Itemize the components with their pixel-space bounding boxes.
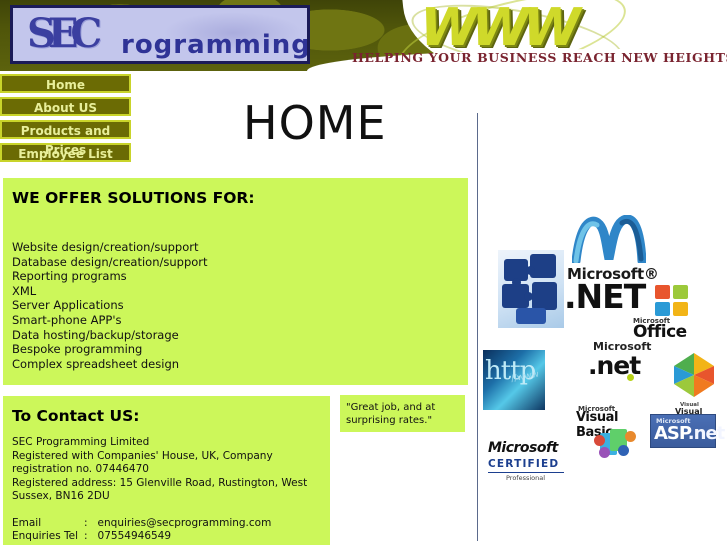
contact-tel-row: Enquiries Tel: 07554946549 xyxy=(12,530,322,544)
list-item: Smart-phone APP's xyxy=(12,313,208,328)
aspnet-icon: Microsoft ASP.net xyxy=(650,414,716,448)
contact-company: SEC Programming Limited xyxy=(12,436,322,450)
main-navigation: Home About US Products and Prices Employ… xyxy=(0,74,133,166)
technology-logo-cloud: http //www Microsoft® .NET Microsoft .ne… xyxy=(478,120,727,540)
aspnet-name: ASP.net xyxy=(654,423,724,444)
contact-details: SEC Programming Limited Registered with … xyxy=(12,436,322,544)
visual-studio-icon: Visual Visual Studio xyxy=(663,350,725,420)
list-item: Reporting programs xyxy=(12,269,208,284)
microsoft-certified-icon: Microsoft CERTIFIED Professional xyxy=(486,440,568,494)
logo-programming-text: rogramming xyxy=(121,30,310,60)
list-item: Database design/creation/support xyxy=(12,255,208,270)
banner-tagline: HELPING YOUR BUSINESS REACH NEW HEIGHTS xyxy=(352,50,727,65)
microsoft-dotnet-small-icon: Microsoft .net xyxy=(583,340,655,396)
site-banner: WWW HELPING YOUR BUSINESS REACH NEW HEIG… xyxy=(0,0,727,71)
office-name-text: Office xyxy=(633,322,687,342)
list-item: Server Applications xyxy=(12,298,208,313)
visual-basic-icon: Microsoft Visual Basic xyxy=(570,405,648,465)
mscert-microsoft-text: Microsoft xyxy=(488,440,558,456)
solutions-list: Website design/creation/support Database… xyxy=(12,240,208,371)
nav-item-about-us[interactable]: About US xyxy=(0,97,131,116)
dotnet-swoosh-icon xyxy=(572,215,646,263)
contact-heading: To Contact US: xyxy=(12,407,139,425)
contact-tel-value: : 07554946549 xyxy=(84,530,171,542)
office-tiles-icon xyxy=(655,285,689,317)
list-item: XML xyxy=(12,284,208,299)
aspnet-asp-text: ASP xyxy=(654,423,688,444)
mscert-certified-text: CERTIFIED xyxy=(488,458,559,470)
mscert-professional-text: Professional xyxy=(506,474,545,482)
list-item: Data hosting/backup/storage xyxy=(12,328,208,343)
site-logo[interactable]: SEC rogramming xyxy=(10,5,310,64)
visual-studio-mark-icon xyxy=(669,350,719,400)
contact-email-row: Email: enquiries@secprogramming.com xyxy=(12,517,322,531)
solutions-panel: WE OFFER SOLUTIONS FOR: Website design/c… xyxy=(3,178,468,385)
page-title: HOME xyxy=(243,96,387,150)
contact-email-value[interactable]: : enquiries@secprogramming.com xyxy=(84,517,271,529)
testimonial-text: "Great job, and at surprising rates." xyxy=(346,401,461,427)
mscert-rule xyxy=(488,472,564,473)
vbasic-art-icon xyxy=(594,425,638,459)
page-root: WWW HELPING YOUR BUSINESS REACH NEW HEIG… xyxy=(0,0,727,545)
solutions-heading: WE OFFER SOLUTIONS FOR: xyxy=(12,189,255,207)
contact-tel-label: Enquiries Tel xyxy=(12,530,84,544)
contact-panel: To Contact US: SEC Programming Limited R… xyxy=(3,396,330,545)
nav-item-employee-list[interactable]: Employee List xyxy=(0,143,131,162)
contact-registration: Registered with Companies' House, UK, Co… xyxy=(12,450,322,477)
list-item: Website design/creation/support xyxy=(12,240,208,255)
list-item: Bespoke programming xyxy=(12,342,208,357)
puzzle-pieces-icon xyxy=(498,250,564,328)
aspnet-net-text: .net xyxy=(688,423,724,444)
contact-keyvalues: Email: enquiries@secprogramming.com Enqu… xyxy=(12,517,322,544)
nav-item-home[interactable]: Home xyxy=(0,74,131,93)
dotnet-small-dot-icon xyxy=(627,374,634,381)
contact-address: Registered address: 15 Glenville Road, R… xyxy=(12,477,322,504)
nav-item-products-and-prices[interactable]: Products and Prices xyxy=(0,120,131,139)
microsoft-office-icon: Microsoft Office xyxy=(633,285,703,347)
contact-email-label: Email xyxy=(12,517,84,531)
http-www-icon: http //www xyxy=(483,350,545,410)
testimonial-panel: "Great job, and at surprising rates." xyxy=(340,395,465,432)
logo-sec-text: SEC xyxy=(27,10,94,57)
list-item: Complex spreadsheet design xyxy=(12,357,208,372)
